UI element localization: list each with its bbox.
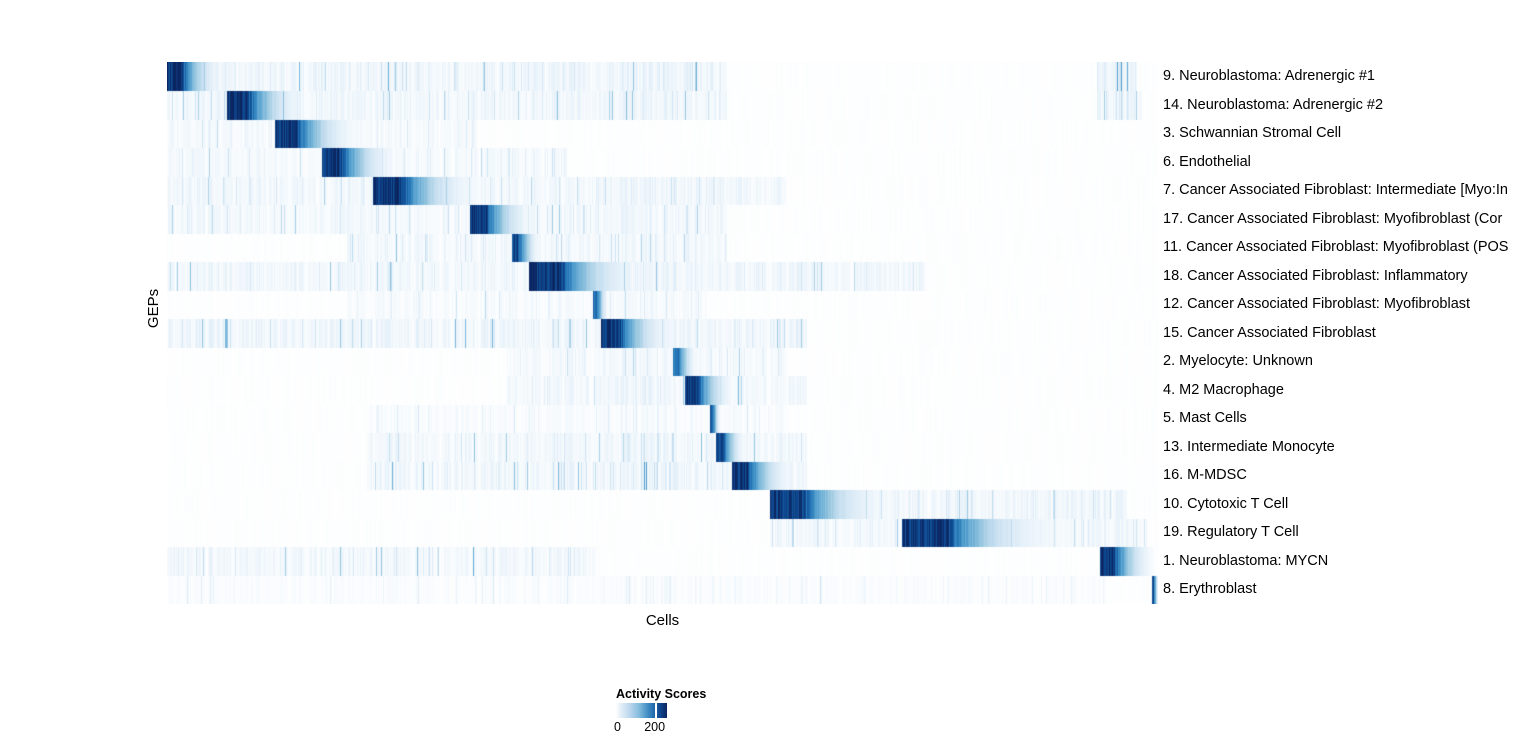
row-label: 3. Schwannian Stromal Cell — [1163, 119, 1341, 148]
row-label: 5. Mast Cells — [1163, 404, 1247, 433]
colorbar-tick-mark — [655, 703, 657, 718]
row-label: 11. Cancer Associated Fibroblast: Myofib… — [1163, 233, 1508, 262]
row-label-list: 9. Neuroblastoma: Adrenergic #114. Neuro… — [1163, 62, 1540, 604]
row-label: 8. Erythroblast — [1163, 575, 1257, 604]
heatmap-plot-area — [167, 62, 1158, 604]
row-label: 7. Cancer Associated Fibroblast: Interme… — [1163, 176, 1508, 205]
colorbar-title: Activity Scores — [616, 687, 706, 701]
row-label: 2. Myelocyte: Unknown — [1163, 347, 1313, 376]
row-label: 9. Neuroblastoma: Adrenergic #1 — [1163, 62, 1375, 91]
colorbar-gradient — [616, 703, 667, 718]
row-label: 14. Neuroblastoma: Adrenergic #2 — [1163, 91, 1383, 120]
row-label: 10. Cytotoxic T Cell — [1163, 490, 1288, 519]
row-label: 4. M2 Macrophage — [1163, 376, 1284, 405]
row-label: 13. Intermediate Monocyte — [1163, 433, 1335, 462]
row-label: 16. M-MDSC — [1163, 461, 1247, 490]
row-label: 12. Cancer Associated Fibroblast: Myofib… — [1163, 290, 1470, 319]
y-axis-label: GEPs — [145, 289, 162, 328]
row-label: 6. Endothelial — [1163, 148, 1251, 177]
heatmap-canvas — [167, 62, 1158, 604]
row-label: 1. Neuroblastoma: MYCN — [1163, 547, 1328, 576]
colorbar-tick-label: 0 — [614, 720, 621, 734]
heatmap-figure: GEPs Cells 9. Neuroblastoma: Adrenergic … — [0, 0, 1540, 743]
row-label: 17. Cancer Associated Fibroblast: Myofib… — [1163, 205, 1502, 234]
row-label: 15. Cancer Associated Fibroblast — [1163, 319, 1376, 348]
colorbar-tick-label: 200 — [644, 720, 665, 734]
x-axis-label: Cells — [167, 612, 1158, 629]
row-label: 18. Cancer Associated Fibroblast: Inflam… — [1163, 262, 1468, 291]
row-label: 19. Regulatory T Cell — [1163, 518, 1299, 547]
